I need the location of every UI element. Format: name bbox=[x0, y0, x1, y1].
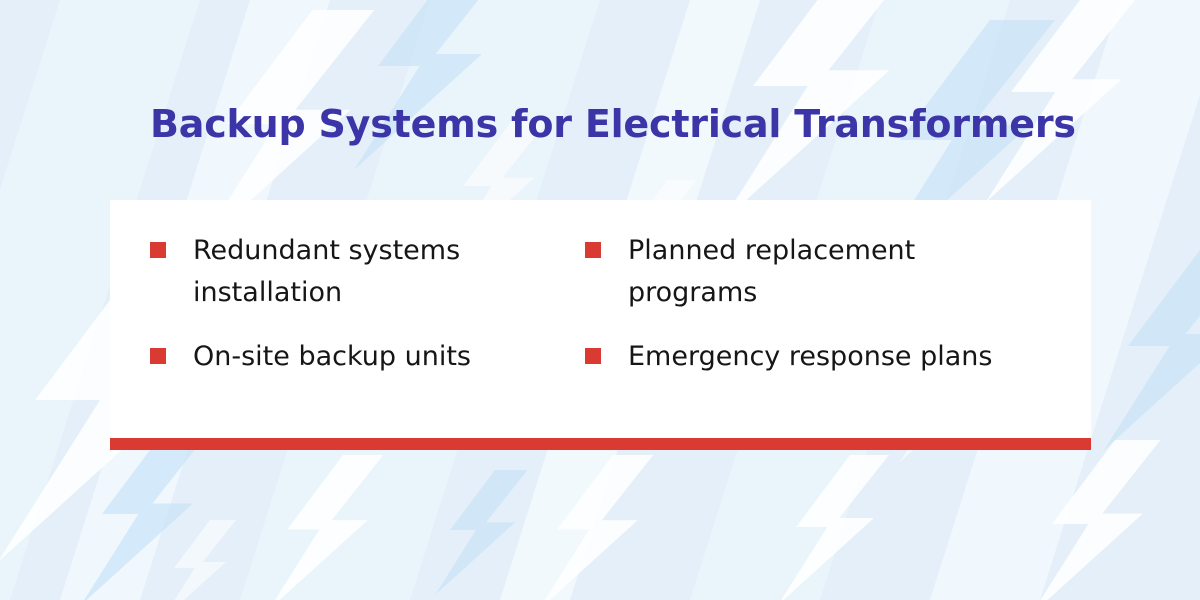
square-bullet-icon bbox=[585, 348, 601, 364]
list-item-label: Redundant systems installation bbox=[193, 230, 523, 314]
page-title: Backup Systems for Electrical Transforme… bbox=[150, 100, 1110, 148]
list-item-label: Emergency response plans bbox=[628, 336, 992, 378]
square-bullet-icon bbox=[150, 242, 166, 258]
square-bullet-icon bbox=[150, 348, 166, 364]
content-card: Redundant systems installation Planned r… bbox=[110, 200, 1091, 438]
list-item: Planned replacement programs bbox=[585, 230, 1020, 314]
list-item: Redundant systems installation bbox=[150, 230, 585, 314]
bullet-grid: Redundant systems installation Planned r… bbox=[150, 230, 1050, 378]
list-item: On-site backup units bbox=[150, 336, 585, 378]
list-item-label: Planned replacement programs bbox=[628, 230, 1020, 314]
square-bullet-icon bbox=[585, 242, 601, 258]
list-item: Emergency response plans bbox=[585, 336, 1020, 378]
slide-container: Backup Systems for Electrical Transforme… bbox=[0, 0, 1200, 600]
list-item-label: On-site backup units bbox=[193, 336, 471, 378]
bottom-accent-bar bbox=[110, 438, 1091, 450]
